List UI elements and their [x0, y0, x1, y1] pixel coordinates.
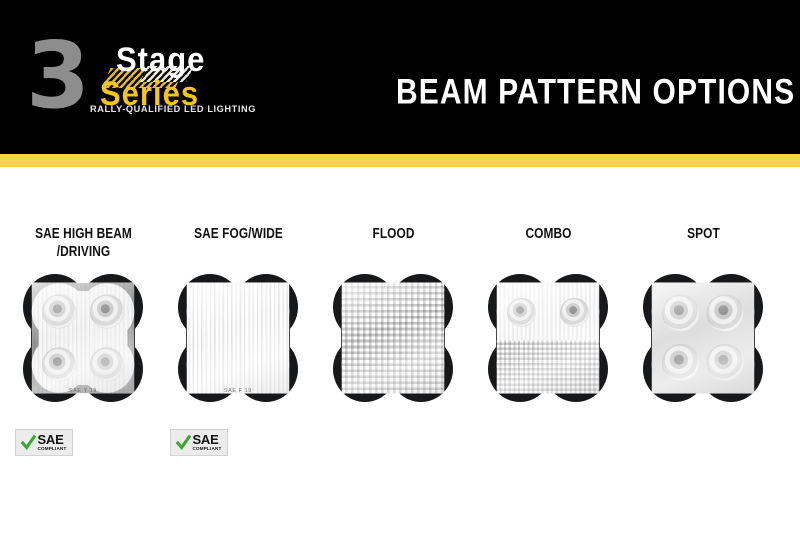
- beam-option-label: FLOOD: [330, 225, 457, 243]
- beam-option-flood[interactable]: FLOOD: [316, 167, 471, 533]
- beam-pattern-options-page: 3 Stage Series RALLY-QUALIFIED LED LIGHT…: [0, 0, 800, 533]
- pod-lens-optics: [497, 282, 600, 393]
- beam-option-label: SAE FOG/WIDE: [175, 225, 302, 243]
- beam-pattern-grid: SAE HIGH BEAM /DRIVING: [0, 167, 800, 533]
- logo-numeral: 3: [26, 30, 86, 122]
- beam-option-combo[interactable]: COMBO: [471, 167, 626, 533]
- beam-option-label-line2: /DRIVING: [20, 243, 147, 261]
- pod-lens-optics: [32, 282, 135, 393]
- sae-badge-title: SAE: [37, 433, 63, 446]
- beam-option-sae-fog-wide[interactable]: SAE FOG/WIDE: [161, 167, 316, 533]
- pod-lens-optics: [652, 282, 755, 393]
- led-pod-image: [488, 273, 608, 403]
- beam-option-label: COMBO: [485, 225, 612, 243]
- sae-compliant-badge: SAE COMPLIANT: [170, 429, 228, 456]
- brand-logo: 3 Stage Series RALLY-QUALIFIED LED LIGHT…: [26, 28, 266, 133]
- beam-option-label-line1: SAE HIGH BEAM: [20, 225, 147, 243]
- pod-lens-optics: [342, 282, 445, 393]
- page-header: 3 Stage Series RALLY-QUALIFIED LED LIGHT…: [0, 0, 800, 154]
- check-icon: [21, 435, 36, 450]
- sae-compliant-badge: SAE COMPLIANT: [15, 429, 73, 456]
- sae-badge-title: SAE: [192, 433, 218, 446]
- beam-option-label: SPOT: [640, 225, 767, 243]
- beam-option-sae-high-beam-driving[interactable]: SAE HIGH BEAM /DRIVING: [6, 167, 161, 533]
- logo-stage-text: Stage: [116, 42, 205, 77]
- accent-divider: [0, 154, 800, 167]
- page-title: BEAM PATTERN OPTIONS: [396, 74, 795, 112]
- beam-option-label-line1: COMBO: [485, 225, 612, 243]
- pod-lens-optics: [187, 282, 290, 393]
- logo-tagline: RALLY-QUALIFIED LED LIGHTING: [90, 104, 256, 114]
- beam-option-label-line1: SPOT: [640, 225, 767, 243]
- led-pod-image: SAE F 19: [178, 273, 298, 403]
- led-pod-image: [333, 273, 453, 403]
- beam-option-label-line1: FLOOD: [330, 225, 457, 243]
- sae-badge-subtitle: COMPLIANT: [37, 447, 66, 452]
- led-pod-image: SAE Y 19: [23, 273, 143, 403]
- pod-lens-marking: SAE F 19: [224, 388, 252, 394]
- led-pod-image: [643, 273, 763, 403]
- beam-option-spot[interactable]: SPOT: [626, 167, 781, 533]
- pod-lens-marking: SAE Y 19: [69, 388, 97, 394]
- check-icon: [176, 435, 191, 450]
- sae-badge-subtitle: COMPLIANT: [192, 447, 221, 452]
- beam-option-label-line1: SAE FOG/WIDE: [175, 225, 302, 243]
- beam-option-label: SAE HIGH BEAM /DRIVING: [20, 225, 147, 261]
- logo-wordmark: Stage Series: [88, 42, 268, 134]
